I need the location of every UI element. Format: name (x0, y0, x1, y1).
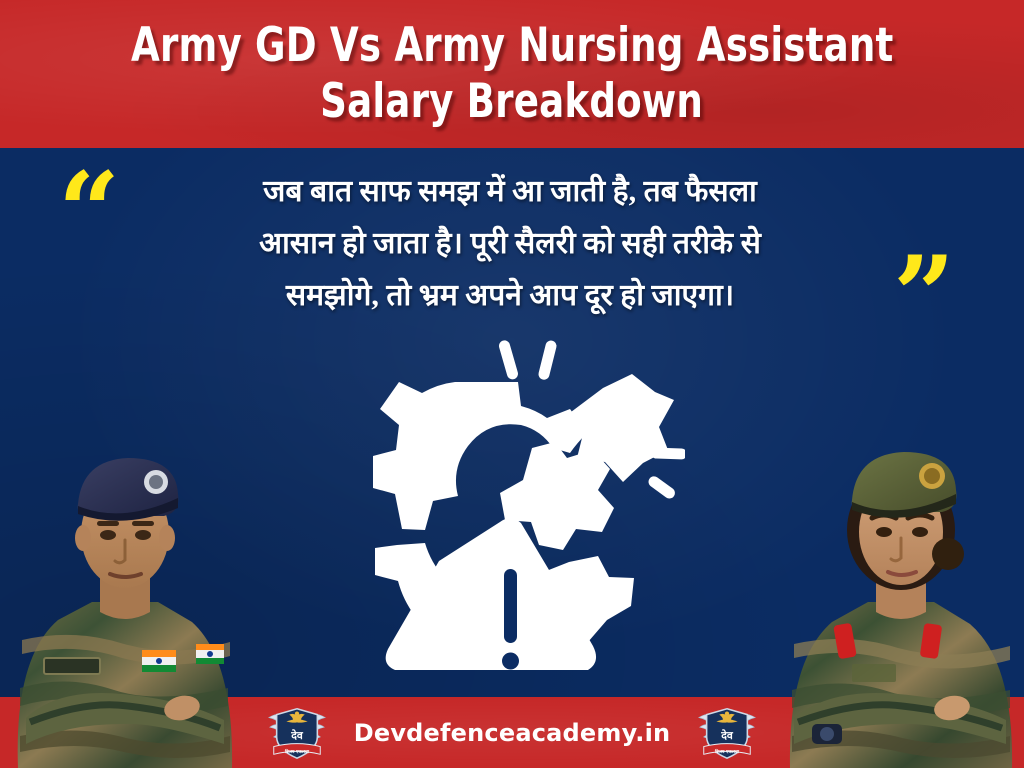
indian-flag-patch-chest (142, 650, 176, 672)
quote-text: जब बात साफ समझ में आ जाती है, तब फैसला आ… (150, 166, 870, 322)
badge-dev-text: देव (290, 728, 304, 741)
badge-ribbon-text: विजय एकलव्य (714, 747, 740, 754)
footer-bar: देव विजय एकलव्य Devdefenceacademy.in देव… (0, 697, 1024, 768)
close-quote-icon: ” (893, 242, 951, 350)
quote-line-1: जब बात साफ समझ में आ जाती है, तब फैसला (150, 166, 870, 218)
name-tape (44, 658, 100, 674)
dev-defence-academy-badge-right[interactable]: देव विजय एकलव्य (696, 702, 758, 764)
dev-defence-academy-badge-left[interactable]: देव विजय एकलव्य (266, 702, 328, 764)
poster-canvas: Army GD Vs Army Nursing Assistant Salary… (0, 0, 1024, 768)
title-line-2: Salary Breakdown (320, 74, 703, 130)
quote-line-2: आसान हो जाता है। पूरी सैलरी को सही तरीके… (150, 218, 870, 270)
title-line-1: Army GD Vs Army Nursing Assistant (131, 18, 894, 74)
beret-cap-badge (919, 463, 945, 489)
indian-flag-patch-shoulder (196, 644, 224, 664)
poster-title: Army GD Vs Army Nursing Assistant Salary… (0, 0, 1024, 148)
open-quote-icon: “ (58, 158, 116, 266)
quote-line-3: समझोगे, तो भ्रम अपने आप दूर हो जाएगा। (150, 270, 870, 322)
broken-gear-warning-icon (355, 330, 685, 695)
quote-block: “ ” जब बात साफ समझ में आ जाती है, तब फैस… (0, 160, 1024, 340)
website-url[interactable]: Devdefenceacademy.in (354, 719, 671, 747)
badge-dev-text: देव (720, 728, 734, 741)
badge-ribbon-text: विजय एकलव्य (284, 747, 310, 754)
